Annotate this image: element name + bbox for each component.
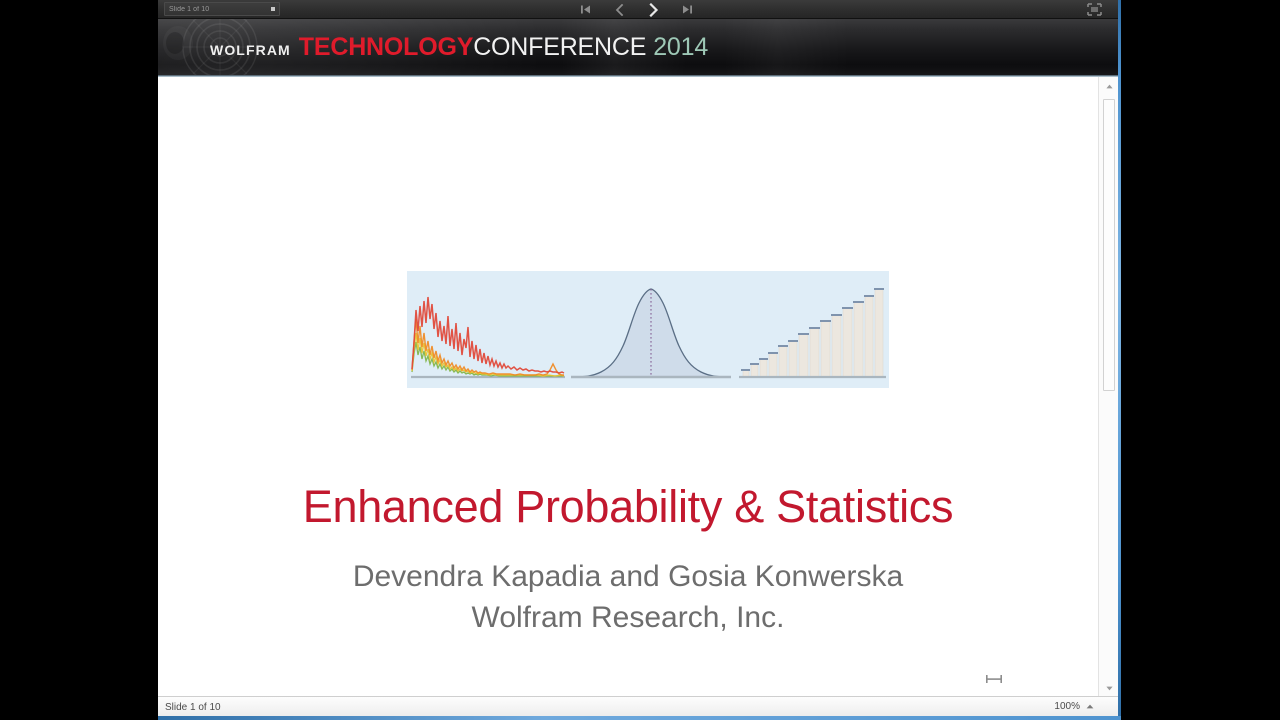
status-slide-counter: Slide 1 of 10 bbox=[165, 702, 221, 713]
scroll-down-arrow-icon[interactable] bbox=[1099, 679, 1120, 697]
slide-selector-value: Slide 1 of 10 bbox=[165, 6, 266, 13]
next-slide-button[interactable] bbox=[638, 0, 668, 19]
zoom-level-label: 100% bbox=[1054, 701, 1080, 712]
chevron-down-icon bbox=[266, 3, 279, 15]
conference-banner: WOLFRAM TECHNOLOGY CONFERENCE 2014 bbox=[158, 19, 1120, 76]
presenter-window: Slide 1 of 10 bbox=[158, 0, 1120, 720]
scrollbar-thumb[interactable] bbox=[1103, 99, 1115, 391]
slide-canvas[interactable]: Enhanced Probability & Statistics Devend… bbox=[158, 77, 1098, 697]
slide-selector-dropdown[interactable]: Slide 1 of 10 bbox=[164, 2, 280, 16]
text-cursor-icon bbox=[985, 673, 1003, 685]
caret-up-icon[interactable] bbox=[1085, 702, 1094, 711]
first-slide-button[interactable] bbox=[570, 0, 600, 19]
slide-affiliation: Wolfram Research, Inc. bbox=[158, 597, 1098, 638]
slide-title: Enhanced Probability & Statistics bbox=[158, 481, 1098, 533]
previous-slide-button[interactable] bbox=[604, 0, 634, 19]
slide-authors: Devendra Kapadia and Gosia Konwerska bbox=[158, 556, 1098, 597]
document-scrollbar[interactable] bbox=[1098, 77, 1120, 697]
fullscreen-icon[interactable] bbox=[1086, 2, 1102, 17]
statistics-graphic bbox=[407, 271, 889, 388]
window-edge-right bbox=[1118, 0, 1121, 720]
last-slide-button[interactable] bbox=[672, 0, 702, 19]
wordmark-technology: TECHNOLOGY bbox=[299, 33, 473, 62]
screen-root: Slide 1 of 10 bbox=[0, 0, 1280, 720]
scroll-up-arrow-icon[interactable] bbox=[1099, 77, 1120, 95]
window-edge-bottom bbox=[158, 716, 1121, 720]
wordmark-conference: CONFERENCE bbox=[473, 33, 646, 62]
player-toolbar: Slide 1 of 10 bbox=[158, 0, 1120, 19]
wordmark-wolfram: WOLFRAM bbox=[210, 42, 291, 58]
document-area: Enhanced Probability & Statistics Devend… bbox=[158, 76, 1120, 697]
zoom-control[interactable]: 100% bbox=[1054, 701, 1094, 712]
conference-wordmark: WOLFRAM TECHNOLOGY CONFERENCE 2014 bbox=[210, 33, 708, 62]
slide-subtitle: Devendra Kapadia and Gosia Konwerska Wol… bbox=[158, 556, 1098, 638]
wordmark-year: 2014 bbox=[653, 33, 708, 62]
